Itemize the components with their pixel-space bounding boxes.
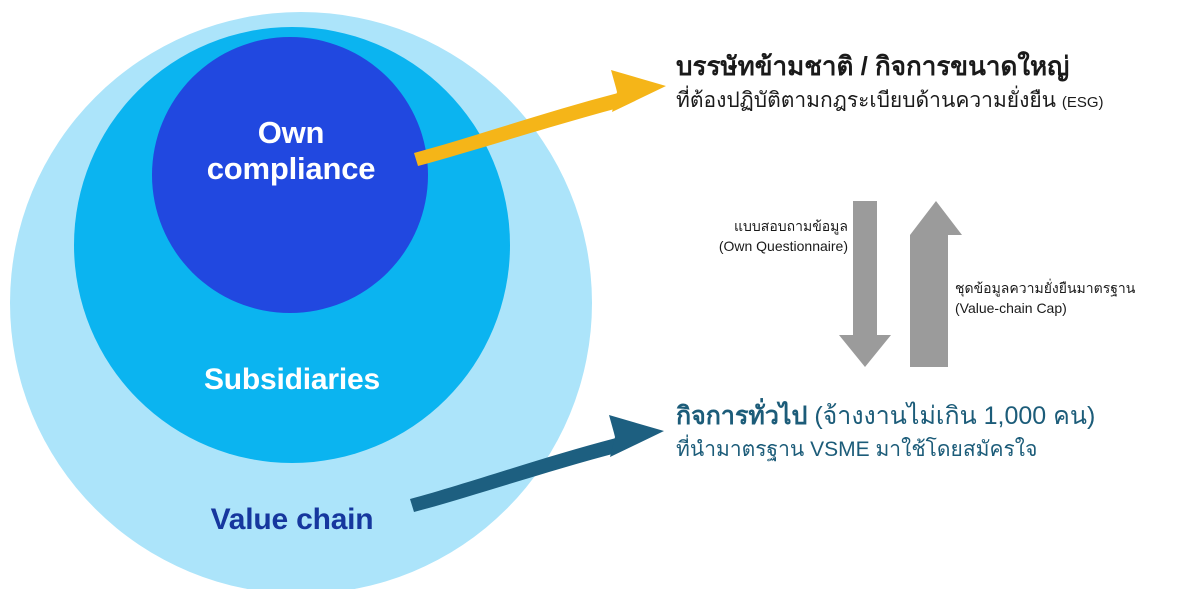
circle-label-subsidiaries: Subsidiaries (140, 363, 444, 398)
exchange-label-down-th: แบบสอบถามข้อมูล (719, 216, 848, 236)
callout-general-business: กิจการทั่วไป (จ้างงานไม่เกิน 1,000 คน) ท… (676, 400, 1196, 463)
callout-large-enterprise-subline: ที่ต้องปฏิบัติตามกฎระเบียบด้านความยั่งยื… (676, 87, 1196, 114)
exchange-label-up-th: ชุดข้อมูลความยั่งยืนมาตรฐาน (955, 278, 1135, 298)
callout-large-enterprise-esg-tag: (ESG) (1062, 94, 1104, 111)
callout-general-business-headline: กิจการทั่วไป (จ้างงานไม่เกิน 1,000 คน) (676, 400, 1196, 433)
callout-large-enterprise-subline-text: ที่ต้องปฏิบัติตามกฎระเบียบด้านความยั่งยื… (676, 89, 1056, 112)
callout-large-enterprise: บรรษัทข้ามชาติ / กิจการขนาดใหญ่ ที่ต้องป… (676, 50, 1196, 115)
callout-general-business-headline-strong: กิจการทั่วไป (676, 402, 807, 430)
exchange-label-up: ชุดข้อมูลความยั่งยืนมาตรฐาน (Value-chain… (955, 278, 1135, 319)
exchange-label-down-en: (Own Questionnaire) (719, 236, 848, 256)
callout-general-business-headline-rest: (จ้างงานไม่เกิน 1,000 คน) (814, 402, 1095, 430)
callout-large-enterprise-headline: บรรษัทข้ามชาติ / กิจการขนาดใหญ่ (676, 50, 1196, 83)
circle-label-value-chain: Value chain (140, 503, 444, 538)
exchange-label-down: แบบสอบถามข้อมูล (Own Questionnaire) (719, 216, 848, 257)
diagram-canvas: Own compliance Subsidiaries Value chain … (0, 0, 1200, 589)
callout-general-business-subline: ที่นำมาตรฐาน VSME มาใช้โดยสมัครใจ (676, 436, 1196, 463)
exchange-arrows-group: แบบสอบถามข้อมูล (Own Questionnaire) ชุดข… (660, 190, 1200, 380)
circle-label-own-compliance: Own compliance (150, 115, 432, 187)
exchange-label-up-en: (Value-chain Cap) (955, 298, 1135, 318)
